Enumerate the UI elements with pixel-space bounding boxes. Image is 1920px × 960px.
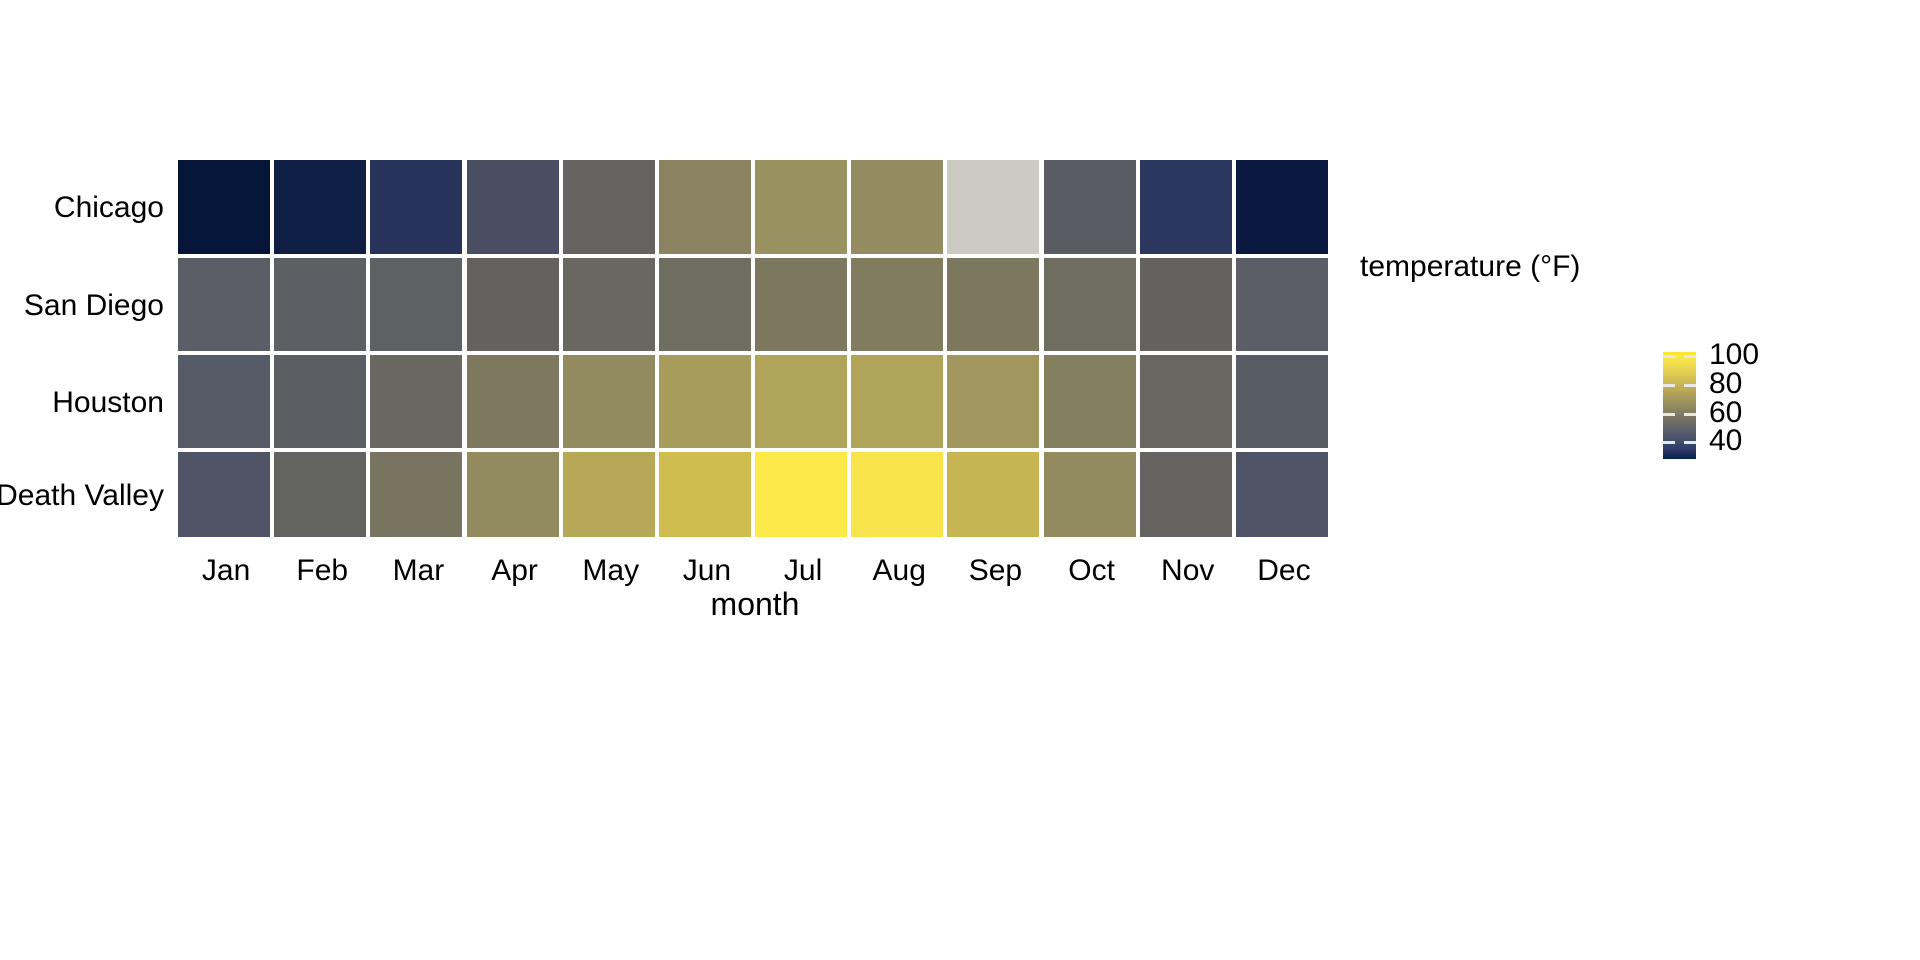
heatmap-cell xyxy=(851,355,943,448)
heatmap-cell xyxy=(851,160,943,254)
heatmap-cell xyxy=(1140,258,1232,351)
legend-tick-label: 60 xyxy=(1709,398,1742,428)
heatmap-cell xyxy=(1044,355,1136,448)
legend-tick-mark xyxy=(1684,355,1696,358)
x-axis-title: month xyxy=(178,588,1332,620)
x-axis-label: Oct xyxy=(1044,556,1140,586)
x-axis-label: Aug xyxy=(851,556,947,586)
x-axis-label: Apr xyxy=(467,556,563,586)
x-axis-label: Jun xyxy=(659,556,755,586)
heatmap-cell xyxy=(755,258,847,351)
heatmap-cell xyxy=(370,258,462,351)
heatmap-cell xyxy=(178,258,270,351)
heatmap-cell xyxy=(1236,160,1328,254)
heatmap-cell xyxy=(274,160,366,254)
heatmap-cell xyxy=(1044,452,1136,537)
heatmap-cell xyxy=(755,355,847,448)
heatmap-cell xyxy=(659,160,751,254)
heatmap-cell xyxy=(178,452,270,537)
x-axis-label: Mar xyxy=(370,556,466,586)
heatmap-cell xyxy=(1044,258,1136,351)
heatmap-cell xyxy=(563,452,655,537)
heatmap-cell xyxy=(851,452,943,537)
heatmap-cell xyxy=(370,452,462,537)
legend-tick-mark xyxy=(1663,355,1675,358)
heatmap-cell xyxy=(1140,452,1232,537)
heatmap-cell xyxy=(274,258,366,351)
heatmap-panel xyxy=(178,160,1332,545)
x-axis-label: May xyxy=(563,556,659,586)
heatmap-cell xyxy=(274,355,366,448)
y-axis-label: Death Valley xyxy=(0,481,164,511)
heatmap-cell xyxy=(467,160,559,254)
heatmap-cell xyxy=(370,355,462,448)
heatmap-cell xyxy=(370,160,462,254)
x-axis-label: Sep xyxy=(947,556,1043,586)
heatmap-cell xyxy=(947,355,1039,448)
heatmap-cell xyxy=(563,160,655,254)
legend-tick-mark xyxy=(1684,413,1696,416)
legend-tick-label: 100 xyxy=(1709,340,1759,370)
heatmap-cell xyxy=(755,160,847,254)
heatmap-cell xyxy=(178,355,270,448)
heatmap-cell xyxy=(947,258,1039,351)
heatmap-cell xyxy=(659,355,751,448)
y-axis-label: San Diego xyxy=(24,291,164,321)
heatmap-chart: ChicagoSan DiegoHoustonDeath Valley JanF… xyxy=(0,0,1920,960)
legend-tick-label: 40 xyxy=(1709,426,1742,456)
heatmap-cell xyxy=(1140,160,1232,254)
x-axis-label: Jan xyxy=(178,556,274,586)
heatmap-cell xyxy=(467,258,559,351)
heatmap-cell xyxy=(851,258,943,351)
legend-tick-label: 80 xyxy=(1709,369,1742,399)
heatmap-cell xyxy=(1236,452,1328,537)
legend-tick-mark xyxy=(1663,413,1675,416)
heatmap-cell xyxy=(659,452,751,537)
heatmap-cell xyxy=(947,452,1039,537)
heatmap-cell xyxy=(178,160,270,254)
heatmap-cell xyxy=(659,258,751,351)
y-axis-label: Houston xyxy=(52,388,164,418)
heatmap-cell xyxy=(467,452,559,537)
heatmap-cell xyxy=(563,258,655,351)
heatmap-cell xyxy=(467,355,559,448)
heatmap-cell xyxy=(563,355,655,448)
legend-tick-mark xyxy=(1663,441,1675,444)
x-axis-label: Dec xyxy=(1236,556,1332,586)
heatmap-cell xyxy=(1236,258,1328,351)
heatmap-cell xyxy=(1044,160,1136,254)
legend-tick-mark xyxy=(1663,384,1675,387)
x-axis-label: Nov xyxy=(1140,556,1236,586)
heatmap-cell xyxy=(1236,355,1328,448)
heatmap-cell xyxy=(274,452,366,537)
x-axis-label: Jul xyxy=(755,556,851,586)
heatmap-cell xyxy=(755,452,847,537)
heatmap-cell xyxy=(947,160,1039,254)
legend-title: temperature (°F) xyxy=(1360,252,1580,282)
legend-tick-mark xyxy=(1684,384,1696,387)
x-axis-label: Feb xyxy=(274,556,370,586)
legend-tick-mark xyxy=(1684,441,1696,444)
heatmap-cell xyxy=(1140,355,1232,448)
y-axis-label: Chicago xyxy=(54,193,164,223)
